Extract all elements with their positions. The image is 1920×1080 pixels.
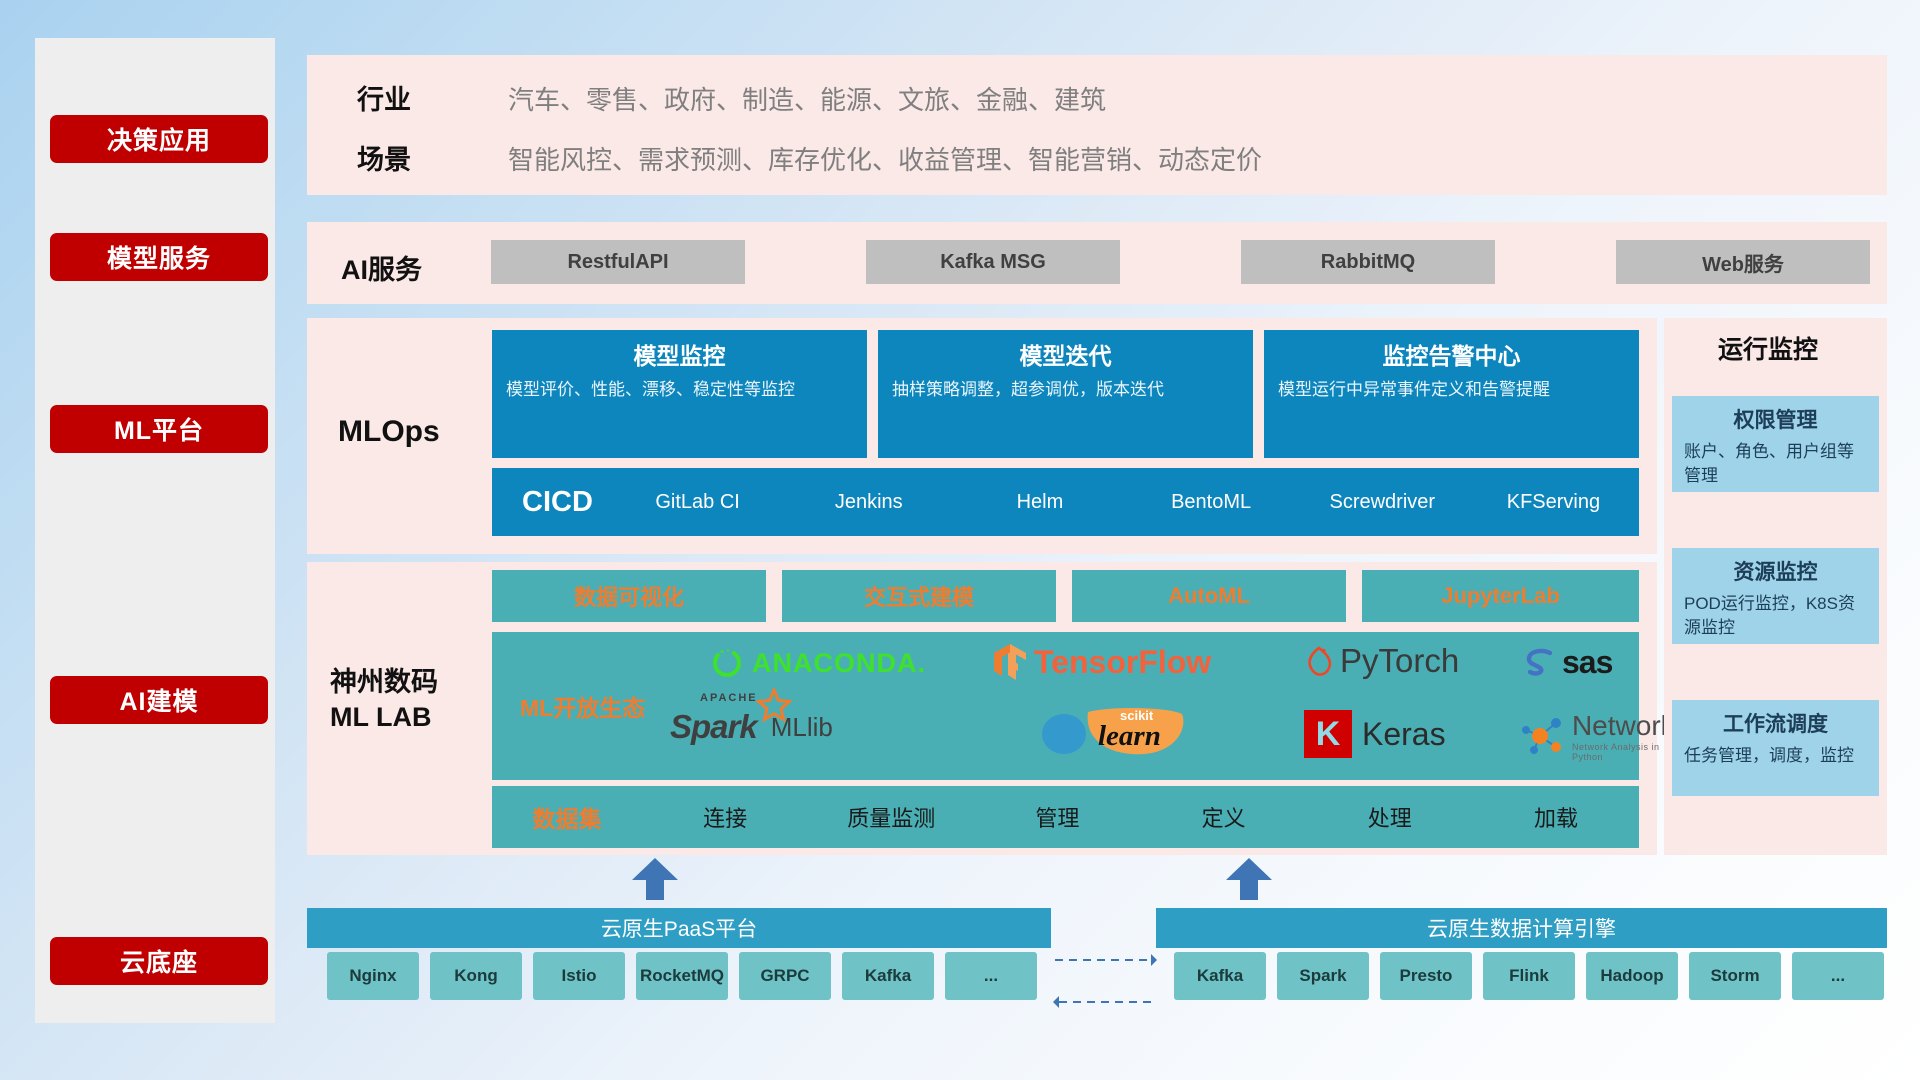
arrow-up-right-icon: [1224, 858, 1274, 900]
scikit-learn-logo: scikit learn: [1038, 706, 1190, 758]
rail-item-model-service[interactable]: 模型服务: [50, 233, 268, 281]
sas-wordmark: sas: [1562, 644, 1612, 681]
industry-value: 汽车、零售、政府、制造、能源、文旅、金融、建筑: [508, 80, 1106, 117]
chip-istio[interactable]: Istio: [533, 952, 625, 1000]
card-title: 模型监控: [506, 342, 853, 371]
spark-mllib-logo: APACHE Spark MLlib: [670, 708, 833, 746]
rail-item-ml-platform[interactable]: ML平台: [50, 405, 268, 453]
networkx-mark-icon: [1518, 714, 1566, 760]
dataset-item-load[interactable]: 加载: [1473, 801, 1639, 833]
sas-mark-icon: [1522, 646, 1560, 680]
chip-spark[interactable]: Spark: [1277, 952, 1369, 1000]
cicd-item-helm[interactable]: Helm: [954, 491, 1125, 514]
chip-grpc[interactable]: GRPC: [739, 952, 831, 1000]
lab-button-data-visualization[interactable]: 数据可视化: [492, 570, 766, 622]
tensorflow-logo: TensorFlow: [992, 642, 1211, 682]
anaconda-wordmark: ANACONDA.: [752, 648, 926, 679]
monitor-card-permission[interactable]: 权限管理 账户、角色、用户组等管理: [1672, 396, 1879, 492]
rail-item-ai-modeling[interactable]: AI建模: [50, 676, 268, 724]
chip-storm[interactable]: Storm: [1689, 952, 1781, 1000]
dataset-label: 数据集: [492, 800, 642, 834]
rail-item-decision-app[interactable]: 决策应用: [50, 115, 268, 163]
cicd-item-jenkins[interactable]: Jenkins: [783, 491, 954, 514]
card-title: 工作流调度: [1684, 708, 1867, 738]
tensorflow-mark-icon: [992, 642, 1028, 682]
spark-wordmark: Spark: [670, 708, 757, 745]
card-desc: 任务管理，调度，监控: [1684, 744, 1867, 768]
card-title: 监控告警中心: [1278, 342, 1625, 371]
cicd-items: GitLab CI Jenkins Helm BentoML Screwdriv…: [612, 491, 1639, 514]
mlops-label: MLOps: [338, 415, 440, 449]
dashed-connectors: [1053, 950, 1157, 1020]
arrow-up-left-icon: [630, 858, 680, 900]
keras-logo: K Keras: [1304, 710, 1446, 758]
card-desc: 抽样策略调整，超参调优，版本迭代: [892, 378, 1239, 403]
dataset-item-define[interactable]: 定义: [1141, 801, 1307, 833]
chip-presto[interactable]: Presto: [1380, 952, 1472, 1000]
card-title: 权限管理: [1684, 404, 1867, 434]
chip-kafka-right[interactable]: Kafka: [1174, 952, 1266, 1000]
lab-button-automl[interactable]: AutoML: [1072, 570, 1346, 622]
chip-more-right[interactable]: ...: [1792, 952, 1884, 1000]
mlops-card-alert-center[interactable]: 监控告警中心 模型运行中异常事件定义和告警提醒: [1264, 330, 1639, 458]
cicd-label: CICD: [492, 486, 612, 519]
cicd-item-gitlab-ci[interactable]: GitLab CI: [612, 491, 783, 514]
card-desc: 模型评价、性能、漂移、稳定性等监控: [506, 378, 853, 403]
keras-wordmark: Keras: [1362, 716, 1446, 753]
chip-rocketmq[interactable]: RocketMQ: [636, 952, 728, 1000]
pytorch-mark-icon: [1304, 642, 1334, 680]
chip-more-left[interactable]: ...: [945, 952, 1037, 1000]
sas-logo: sas: [1522, 644, 1612, 681]
chip-kong[interactable]: Kong: [430, 952, 522, 1000]
chip-kafka-left[interactable]: Kafka: [842, 952, 934, 1000]
ml-ecosystem-label: ML开放生态: [520, 689, 645, 723]
dataset-items: 连接 质量监测 管理 定义 处理 加载: [642, 801, 1639, 833]
card-title: 模型迭代: [892, 342, 1239, 371]
dataset-item-manage[interactable]: 管理: [974, 801, 1140, 833]
pytorch-logo: PyTorch: [1304, 642, 1459, 680]
keras-letter: K: [1316, 715, 1341, 754]
ml-lab-label-line1: 神州数码: [330, 665, 438, 700]
left-rail: [35, 38, 275, 1023]
ai-service-button-rabbitmq[interactable]: RabbitMQ: [1241, 240, 1495, 284]
learn-wordmark: learn: [1098, 720, 1161, 753]
scenario-key: 场景: [357, 138, 411, 177]
dataset-item-connect[interactable]: 连接: [642, 801, 808, 833]
mlops-card-model-monitoring[interactable]: 模型监控 模型评价、性能、漂移、稳定性等监控: [492, 330, 867, 458]
ml-ecosystem-band: ML开放生态 ANACONDA. TensorFlow: [492, 632, 1639, 780]
mlops-card-model-iteration[interactable]: 模型迭代 抽样策略调整，超参调优，版本迭代: [878, 330, 1253, 458]
dataset-row[interactable]: 数据集 连接 质量监测 管理 定义 处理 加载: [492, 786, 1639, 848]
anaconda-logo: ANACONDA.: [710, 646, 926, 680]
cicd-item-screwdriver[interactable]: Screwdriver: [1297, 491, 1468, 514]
card-title: 资源监控: [1684, 556, 1867, 586]
cicd-item-bentoml[interactable]: BentoML: [1126, 491, 1297, 514]
pytorch-wordmark: PyTorch: [1340, 642, 1459, 680]
ai-service-button-kafka-msg[interactable]: Kafka MSG: [866, 240, 1120, 284]
cicd-row[interactable]: CICD GitLab CI Jenkins Helm BentoML Scre…: [492, 468, 1639, 536]
run-monitor-title: 运行监控: [1718, 330, 1818, 366]
card-desc: 账户、角色、用户组等管理: [1684, 440, 1867, 488]
rail-item-cloud-base[interactable]: 云底座: [50, 937, 268, 985]
card-desc: 模型运行中异常事件定义和告警提醒: [1278, 378, 1625, 403]
diagram-canvas: 决策应用 模型服务 ML平台 AI建模 云底座 行业 汽车、零售、政府、制造、能…: [0, 0, 1920, 1080]
chip-nginx[interactable]: Nginx: [327, 952, 419, 1000]
spark-apache-label: APACHE: [700, 692, 758, 704]
chip-hadoop[interactable]: Hadoop: [1586, 952, 1678, 1000]
dataset-item-quality-monitoring[interactable]: 质量监测: [808, 801, 974, 833]
chip-flink[interactable]: Flink: [1483, 952, 1575, 1000]
scenario-value: 智能风控、需求预测、库存优化、收益管理、智能营销、动态定价: [508, 140, 1262, 177]
cloud-base-engine-bar[interactable]: 云原生数据计算引擎: [1156, 908, 1887, 948]
card-desc: POD运行监控，K8S资源监控: [1684, 592, 1867, 640]
spark-star-icon: [756, 688, 792, 724]
industry-key: 行业: [357, 78, 411, 117]
ai-service-button-web[interactable]: Web服务: [1616, 240, 1870, 284]
monitor-card-resource[interactable]: 资源监控 POD运行监控，K8S资源监控: [1672, 548, 1879, 644]
tensorflow-wordmark: TensorFlow: [1034, 644, 1211, 681]
ml-lab-label: 神州数码 ML LAB: [330, 665, 438, 735]
ai-service-label: AI服务: [341, 248, 422, 287]
monitor-card-workflow[interactable]: 工作流调度 任务管理，调度，监控: [1672, 700, 1879, 796]
anaconda-mark-icon: [710, 646, 744, 680]
keras-mark-icon: K: [1304, 710, 1352, 758]
lab-button-interactive-modeling[interactable]: 交互式建模: [782, 570, 1056, 622]
cloud-base-paas-bar[interactable]: 云原生PaaS平台: [307, 908, 1051, 948]
cicd-item-kfserving[interactable]: KFServing: [1468, 491, 1639, 514]
ai-service-button-restfulapi[interactable]: RestfulAPI: [491, 240, 745, 284]
ml-lab-label-line2: ML LAB: [330, 700, 438, 735]
dataset-item-process[interactable]: 处理: [1307, 801, 1473, 833]
lab-button-jupyterlab[interactable]: JupyterLab: [1362, 570, 1639, 622]
